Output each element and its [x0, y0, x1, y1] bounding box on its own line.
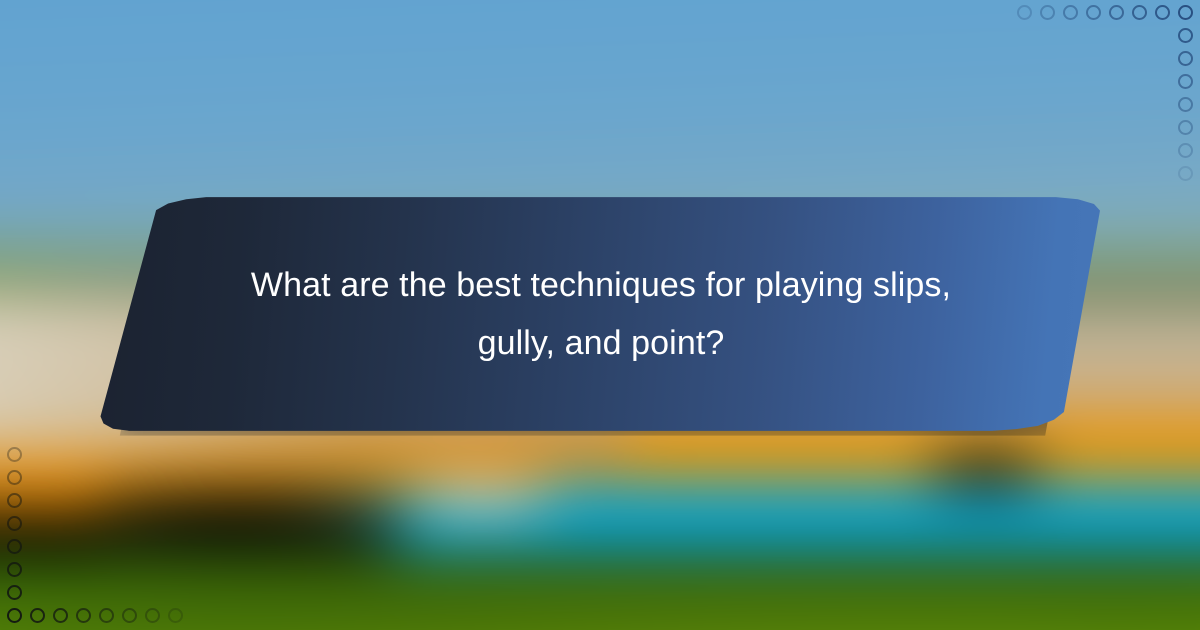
social-card-canvas: What are the best techniques for playing…	[0, 0, 1200, 630]
question-card-content: What are the best techniques for playing…	[100, 196, 1102, 432]
background-pale-highlight	[404, 474, 558, 522]
question-card: What are the best techniques for playing…	[100, 196, 1102, 436]
background-dark-subject-secondary	[922, 442, 1048, 498]
background-grass-texture	[0, 554, 1200, 630]
question-headline: What are the best techniques for playing…	[221, 256, 981, 372]
